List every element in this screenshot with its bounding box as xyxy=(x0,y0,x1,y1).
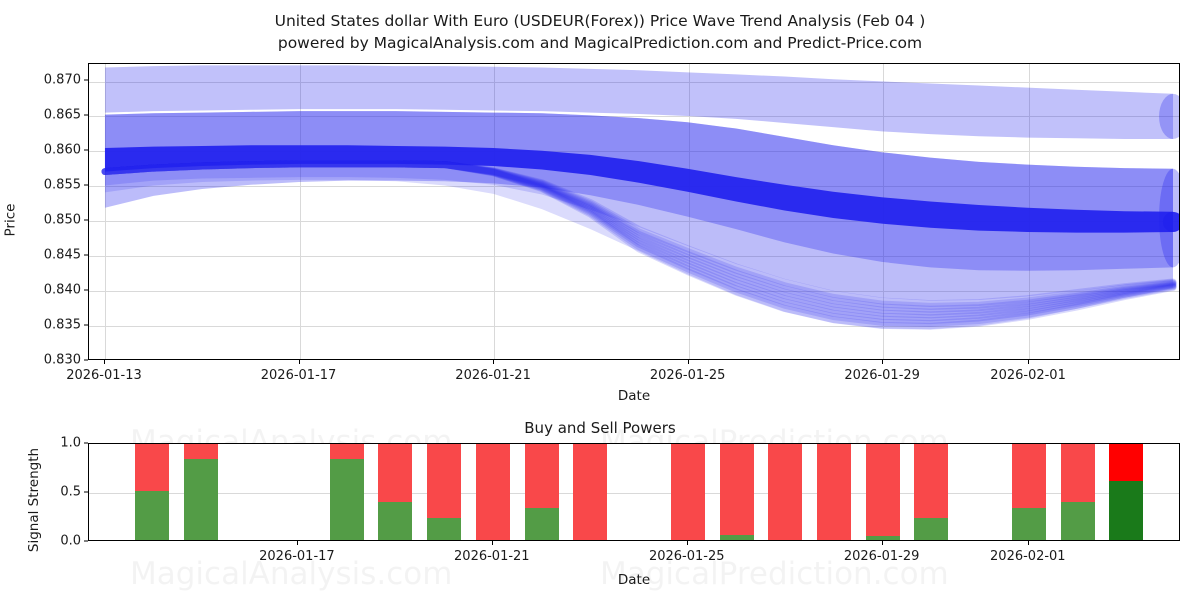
signal-ytick-label: 0.5 xyxy=(60,485,81,500)
signal-plot-area xyxy=(89,444,1179,540)
signal-bar-sell-segment xyxy=(671,444,705,540)
price-chart-axes xyxy=(88,63,1180,360)
price-xaxis-title: Date xyxy=(618,388,650,404)
price-ytick-label: 0.830 xyxy=(44,353,81,368)
price-ytick-label: 0.860 xyxy=(44,143,81,158)
figure-title: United States dollar With Euro (USDEUR(F… xyxy=(0,10,1200,54)
signal-xtick-mark xyxy=(297,541,298,545)
signal-bar[interactable] xyxy=(1012,444,1046,540)
price-xtick-mark xyxy=(493,360,494,364)
signal-bar[interactable] xyxy=(768,444,802,540)
figure-root: United States dollar With Euro (USDEUR(F… xyxy=(0,0,1200,600)
price-ytick-label: 0.845 xyxy=(44,248,81,263)
signal-xtick-label: 2026-02-01 xyxy=(990,549,1066,564)
price-ytick-mark xyxy=(84,325,88,326)
signal-bar-buy-segment xyxy=(525,508,559,540)
signal-bar[interactable] xyxy=(1109,444,1143,540)
price-xtick-mark xyxy=(1028,360,1029,364)
price-ytick-mark xyxy=(84,360,88,361)
price-xtick-mark xyxy=(688,360,689,364)
signal-xtick-label: 2026-01-29 xyxy=(844,549,920,564)
signal-bar-buy-segment xyxy=(135,491,169,540)
signal-bar-buy-segment xyxy=(1061,502,1095,540)
signal-bar-sell-segment xyxy=(720,444,754,535)
signal-bar[interactable] xyxy=(866,444,900,540)
price-xtick-mark xyxy=(882,360,883,364)
signal-bar-sell-segment xyxy=(573,444,607,540)
signal-bar-buy-segment xyxy=(330,459,364,540)
signal-bar[interactable] xyxy=(671,444,705,540)
price-xtick-label: 2026-02-01 xyxy=(990,368,1066,383)
signal-bar-buy-segment xyxy=(866,536,900,540)
price-xtick-label: 2026-01-25 xyxy=(650,368,726,383)
signal-bar-sell-segment xyxy=(330,444,364,459)
price-ytick-label: 0.840 xyxy=(44,283,81,298)
signal-chart-axes xyxy=(88,443,1180,541)
signal-bar-sell-segment xyxy=(817,444,851,540)
signal-bar[interactable] xyxy=(476,444,510,540)
price-ytick-mark xyxy=(84,290,88,291)
figure-title-line1: United States dollar With Euro (USDEUR(F… xyxy=(275,12,926,30)
signal-bar[interactable] xyxy=(720,444,754,540)
price-xtick-mark xyxy=(299,360,300,364)
signal-bar[interactable] xyxy=(525,444,559,540)
price-ytick-label: 0.870 xyxy=(44,73,81,88)
signal-yaxis-title: Signal Strength xyxy=(26,448,42,552)
figure-title-line2: powered by MagicalAnalysis.com and Magic… xyxy=(0,32,1200,54)
signal-ytick-mark xyxy=(84,492,88,493)
signal-bar-sell-segment xyxy=(768,444,802,540)
price-ytick-label: 0.850 xyxy=(44,213,81,228)
signal-bar[interactable] xyxy=(817,444,851,540)
signal-xtick-mark xyxy=(492,541,493,545)
signal-bar-buy-segment xyxy=(1109,481,1143,540)
signal-bar-buy-segment xyxy=(914,518,948,540)
price-ytick-mark xyxy=(84,185,88,186)
signal-bar-buy-segment xyxy=(427,518,461,540)
price-band-svg xyxy=(89,64,1179,359)
signal-xtick-mark xyxy=(687,541,688,545)
signal-bar[interactable] xyxy=(573,444,607,540)
price-plot-area xyxy=(89,64,1179,359)
signal-xtick-mark xyxy=(1028,541,1029,545)
signal-xtick-label: 2026-01-21 xyxy=(454,549,530,564)
signal-bar-buy-segment xyxy=(184,459,218,540)
signal-bar-sell-segment xyxy=(1061,444,1095,502)
signal-ytick-mark xyxy=(84,443,88,444)
price-ytick-mark xyxy=(84,255,88,256)
signal-bar[interactable] xyxy=(914,444,948,540)
price-ytick-label: 0.855 xyxy=(44,178,81,193)
signal-ytick-label: 0.0 xyxy=(60,534,81,549)
signal-bar-sell-segment xyxy=(184,444,218,459)
signal-bar[interactable] xyxy=(135,444,169,540)
price-ytick-mark xyxy=(84,150,88,151)
signal-bar-sell-segment xyxy=(525,444,559,508)
price-ytick-label: 0.835 xyxy=(44,318,81,333)
signal-bar-sell-segment xyxy=(1109,444,1143,481)
signal-xtick-label: 2026-01-25 xyxy=(649,549,725,564)
signal-bar-sell-segment xyxy=(476,444,510,540)
signal-bar-sell-segment xyxy=(1012,444,1046,508)
signal-bar-sell-segment xyxy=(427,444,461,518)
signal-bar-sell-segment xyxy=(135,444,169,491)
signal-ytick-mark xyxy=(84,541,88,542)
signal-ytick-label: 1.0 xyxy=(60,436,81,451)
price-ytick-mark xyxy=(84,80,88,81)
signal-bar[interactable] xyxy=(1061,444,1095,540)
signal-bar-buy-segment xyxy=(378,502,412,540)
signal-bar-sell-segment xyxy=(914,444,948,518)
signal-bar-sell-segment xyxy=(866,444,900,536)
price-xtick-label: 2026-01-17 xyxy=(261,368,337,383)
signal-chart-title: Buy and Sell Powers xyxy=(0,419,1200,437)
price-xtick-mark xyxy=(104,360,105,364)
price-ytick-mark xyxy=(84,115,88,116)
signal-xaxis-title: Date xyxy=(618,572,650,588)
price-xtick-label: 2026-01-13 xyxy=(66,368,142,383)
signal-xtick-mark xyxy=(882,541,883,545)
signal-bar-buy-segment xyxy=(720,535,754,540)
signal-bar[interactable] xyxy=(378,444,412,540)
price-ytick-label: 0.865 xyxy=(44,108,81,123)
signal-xtick-label: 2026-01-17 xyxy=(259,549,335,564)
price-xtick-label: 2026-01-29 xyxy=(844,368,920,383)
signal-bar[interactable] xyxy=(184,444,218,540)
price-xtick-label: 2026-01-21 xyxy=(455,368,531,383)
price-yaxis-title: Price xyxy=(2,204,18,237)
signal-bar[interactable] xyxy=(330,444,364,540)
signal-bar-buy-segment xyxy=(1012,508,1046,540)
signal-bar[interactable] xyxy=(427,444,461,540)
signal-bar-sell-segment xyxy=(378,444,412,502)
price-ytick-mark xyxy=(84,220,88,221)
